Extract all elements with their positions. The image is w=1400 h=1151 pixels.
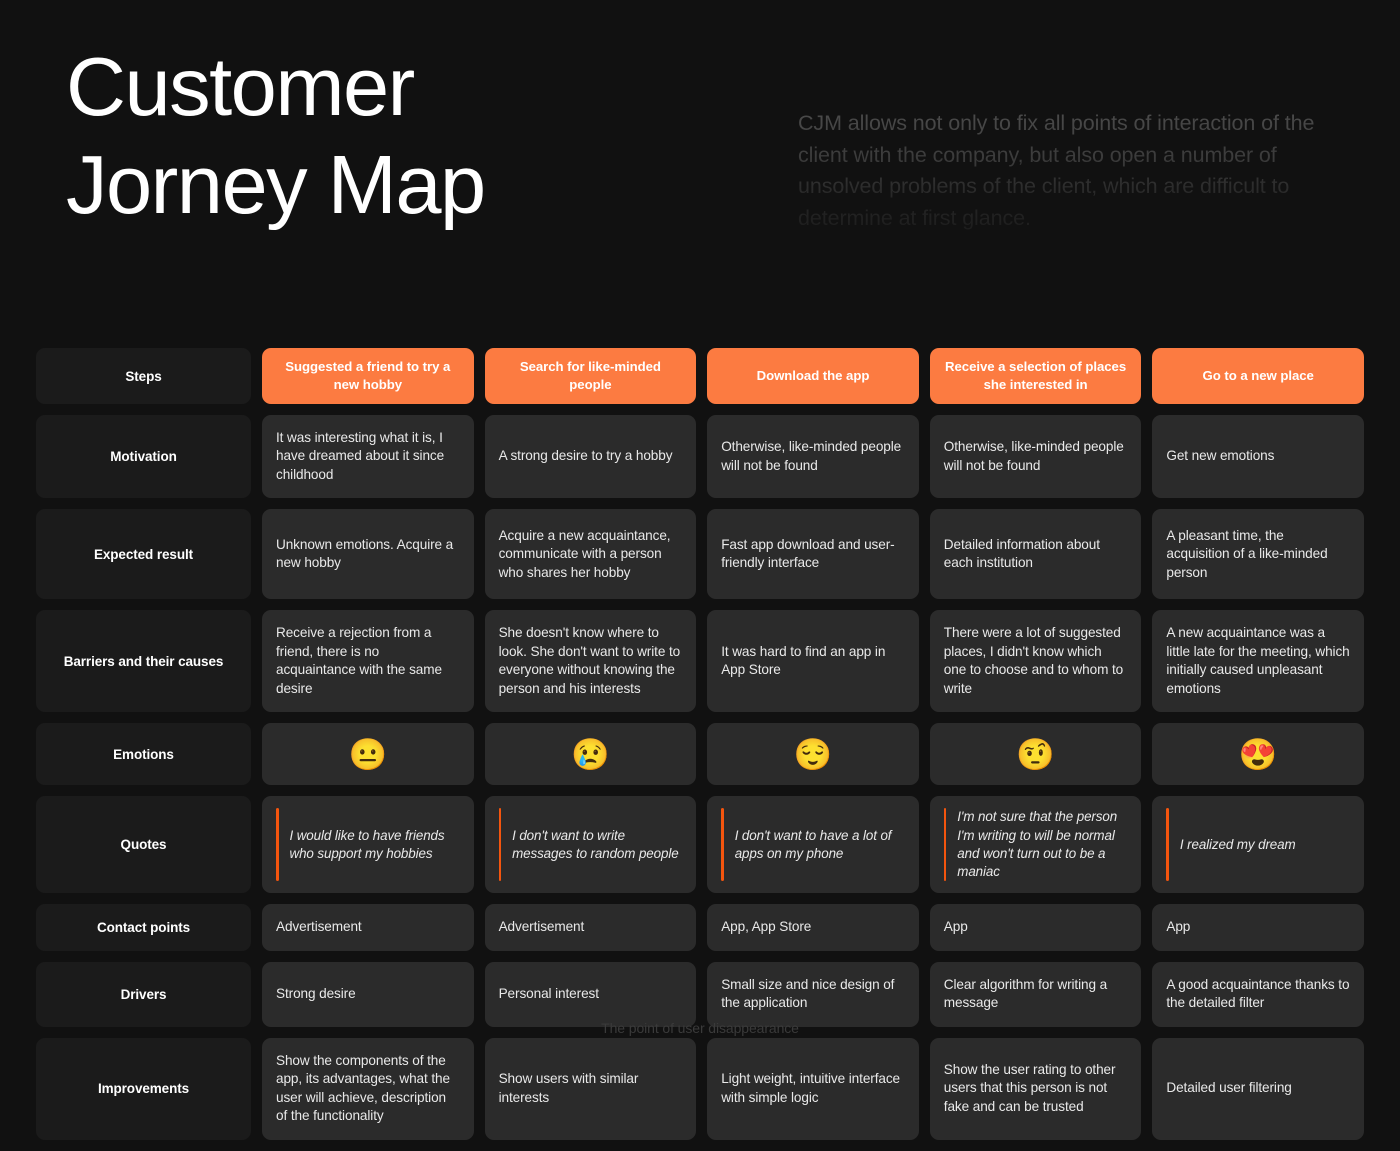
motivation-cell-2[interactable]: A strong desire to try a hobby [485,415,697,498]
expected-result-row: Expected result Unknown emotions. Acquir… [36,509,1364,599]
emotions-row: Emotions 😐 😢 😌 🤨 😍 [36,723,1364,785]
row-label-steps: Steps [36,348,251,404]
quote: I don't want to have a lot of apps on my… [721,808,905,881]
footer-note: The point of user disappearance [0,1020,1400,1036]
quote-accent-bar [1166,808,1169,881]
motivation-cell-5[interactable]: Get new emotions [1152,415,1364,498]
motivation-cell-4[interactable]: Otherwise, like-minded people will not b… [930,415,1142,498]
barriers-cell-4[interactable]: There were a lot of suggested places, I … [930,610,1142,712]
quote-accent-bar [944,808,947,881]
contact-points-cell-2[interactable]: Advertisement [485,904,697,950]
row-label-expected-result: Expected result [36,509,251,599]
row-label-contact-points: Contact points [36,904,251,950]
quote: I realized my dream [1166,808,1350,881]
drivers-cell-3[interactable]: Small size and nice design of the applic… [707,962,919,1027]
expected-result-cell-1[interactable]: Unknown emotions. Acquire a new hobby [262,509,474,599]
emotions-cell-2[interactable]: 😢 [485,723,697,785]
expected-result-cell-4[interactable]: Detailed information about each institut… [930,509,1142,599]
quote-accent-bar [721,808,724,881]
smiling-face-with-hearts-emoji: 😍 [1239,739,1278,770]
step-cell-5[interactable]: Go to a new place [1152,348,1364,404]
contact-points-cell-3[interactable]: App, App Store [707,904,919,950]
row-label-barriers: Barriers and their causes [36,610,251,712]
relieved-face-emoji: 😌 [794,739,833,770]
neutral-face-emoji: 😐 [349,739,388,770]
quotes-cell-1[interactable]: I would like to have friends who support… [262,796,474,893]
improvements-cell-3[interactable]: Light weight, intuitive interface with s… [707,1038,919,1140]
steps-row: Steps Suggested a friend to try a new ho… [36,348,1364,404]
raised-eyebrow-face-emoji: 🤨 [1016,739,1055,770]
step-cell-3[interactable]: Download the app [707,348,919,404]
emotions-cell-3[interactable]: 😌 [707,723,919,785]
intro-paragraph: CJM allows not only to fix all points of… [798,108,1343,234]
motivation-cell-1[interactable]: It was interesting what it is, I have dr… [262,415,474,498]
quote-text: I don't want to have a lot of apps on my… [735,827,905,863]
contact-points-cell-4[interactable]: App [930,904,1142,950]
quote: I would like to have friends who support… [276,808,460,881]
improvements-cell-4[interactable]: Show the user rating to other users that… [930,1038,1142,1140]
improvements-row: Improvements Show the components of the … [36,1038,1364,1140]
emotions-cell-5[interactable]: 😍 [1152,723,1364,785]
row-label-quotes: Quotes [36,796,251,893]
barriers-cell-3[interactable]: It was hard to find an app in App Store [707,610,919,712]
quotes-cell-4[interactable]: I'm not sure that the person I'm writing… [930,796,1142,893]
crying-face-emoji: 😢 [571,739,610,770]
row-label-emotions: Emotions [36,723,251,785]
quote-text: I don't want to write messages to random… [512,827,682,863]
quotes-row: Quotes I would like to have friends who … [36,796,1364,893]
contact-points-cell-1[interactable]: Advertisement [262,904,474,950]
quotes-cell-5[interactable]: I realized my dream [1152,796,1364,893]
row-label-drivers: Drivers [36,962,251,1027]
step-cell-2[interactable]: Search for like-minded people [485,348,697,404]
motivation-row: Motivation It was interesting what it is… [36,415,1364,498]
page-title: Customer Jorney Map [66,38,485,234]
quote-text: I realized my dream [1180,836,1296,854]
improvements-cell-2[interactable]: Show users with similar interests [485,1038,697,1140]
improvements-cell-1[interactable]: Show the components of the app, its adva… [262,1038,474,1140]
drivers-cell-2[interactable]: Personal interest [485,962,697,1027]
quote-text: I'm not sure that the person I'm writing… [957,808,1127,881]
row-label-motivation: Motivation [36,415,251,498]
expected-result-cell-3[interactable]: Fast app download and user-friendly inte… [707,509,919,599]
expected-result-cell-2[interactable]: Acquire a new acquaintance, communicate … [485,509,697,599]
motivation-cell-3[interactable]: Otherwise, like-minded people will not b… [707,415,919,498]
drivers-cell-4[interactable]: Clear algorithm for writing a message [930,962,1142,1027]
contact-points-cell-5[interactable]: App [1152,904,1364,950]
quote-accent-bar [499,808,502,881]
barriers-cell-1[interactable]: Receive a rejection from a friend, there… [262,610,474,712]
expected-result-cell-5[interactable]: A pleasant time, the acquisition of a li… [1152,509,1364,599]
barriers-row: Barriers and their causes Receive a reje… [36,610,1364,712]
quotes-cell-2[interactable]: I don't want to write messages to random… [485,796,697,893]
emotions-cell-1[interactable]: 😐 [262,723,474,785]
contact-points-row: Contact points Advertisement Advertiseme… [36,904,1364,950]
quotes-cell-3[interactable]: I don't want to have a lot of apps on my… [707,796,919,893]
drivers-cell-5[interactable]: A good acquaintance thanks to the detail… [1152,962,1364,1027]
drivers-row: Drivers Strong desire Personal interest … [36,962,1364,1027]
page-header: Customer Jorney Map CJM allows not only … [0,0,1400,300]
improvements-cell-5[interactable]: Detailed user filtering [1152,1038,1364,1140]
quote: I don't want to write messages to random… [499,808,683,881]
emotions-cell-4[interactable]: 🤨 [930,723,1142,785]
cjm-page: Customer Jorney Map CJM allows not only … [0,0,1400,1072]
barriers-cell-2[interactable]: She doesn't know where to look. She don'… [485,610,697,712]
step-cell-1[interactable]: Suggested a friend to try a new hobby [262,348,474,404]
drivers-cell-1[interactable]: Strong desire [262,962,474,1027]
quote-accent-bar [276,808,279,881]
row-label-improvements: Improvements [36,1038,251,1140]
quote-text: I would like to have friends who support… [290,827,460,863]
step-cell-4[interactable]: Receive a selection of places she intere… [930,348,1142,404]
barriers-cell-5[interactable]: A new acquaintance was a little late for… [1152,610,1364,712]
quote: I'm not sure that the person I'm writing… [944,808,1128,881]
